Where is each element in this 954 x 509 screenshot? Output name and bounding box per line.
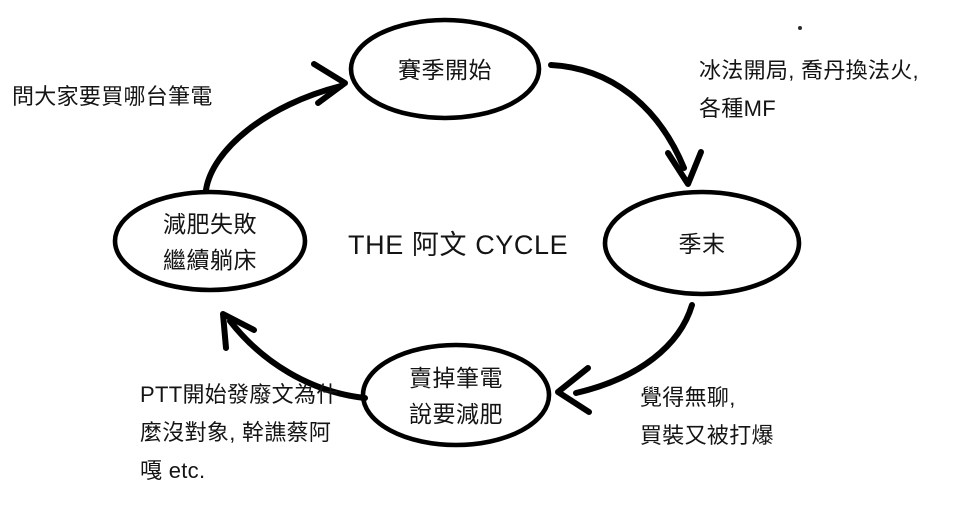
arrow-bottom-to-left-head [223,314,254,348]
annotation-ptt-rant-line2: 麼沒對象, 幹譙蔡阿 [140,414,339,452]
annotation-ptt-rant-line3: 嘎 etc. [140,452,339,490]
annotation-ice-mage-opening-line1: 冰法開局, 喬丹換法火, [699,52,919,90]
arrow-left-to-top-shaft [206,86,341,190]
node-label-season-start-text: 賽季開始 [398,57,492,83]
arrow-right-to-bottom-head [558,368,589,412]
annotation-bored-and-owned-line1: 覺得無聊, [640,379,774,417]
ink-speck [798,26,802,30]
node-label-sell-laptop: 賣掉筆電 說要減肥 [356,360,556,432]
arrow-left-to-top-head [314,64,345,103]
annotation-ice-mage-opening-line2: 各種MF [699,90,919,128]
annotation-ask-which-laptop-line1: 問大家要買哪台筆電 [12,78,213,116]
diagram-center-title-text: THE 阿文 CYCLE [348,230,568,260]
annotation-ptt-rant: PTT開始發廢文為什 麼沒對象, 幹譙蔡阿 嘎 etc. [140,376,339,490]
node-label-diet-fail-line2: 繼續躺床 [110,242,310,278]
node-label-diet-fail-line1: 減肥失敗 [110,206,310,242]
node-label-season-start: 賽季開始 [345,52,545,88]
node-label-season-end-text: 季末 [679,231,726,257]
node-label-sell-laptop-line2: 說要減肥 [356,396,556,432]
annotation-bored-and-owned-line2: 買裝又被打爆 [640,417,774,455]
annotation-ptt-rant-line1: PTT開始發廢文為什 [140,376,339,414]
arrow-top-to-right-head [668,152,701,184]
cycle-diagram-canvas: 賽季開始 季末 賣掉筆電 說要減肥 減肥失敗 繼續躺床 THE 阿文 CYCLE… [0,0,954,509]
annotation-ice-mage-opening: 冰法開局, 喬丹換法火, 各種MF [699,52,919,128]
node-label-season-end: 季末 [602,226,802,262]
node-label-diet-fail: 減肥失敗 繼續躺床 [110,206,310,278]
annotation-bored-and-owned: 覺得無聊, 買裝又被打爆 [640,379,774,455]
node-label-sell-laptop-line1: 賣掉筆電 [356,360,556,396]
annotation-ask-which-laptop: 問大家要買哪台筆電 [12,78,213,116]
diagram-center-title: THE 阿文 CYCLE [348,229,568,261]
arrow-top-to-right-shaft [551,65,684,168]
